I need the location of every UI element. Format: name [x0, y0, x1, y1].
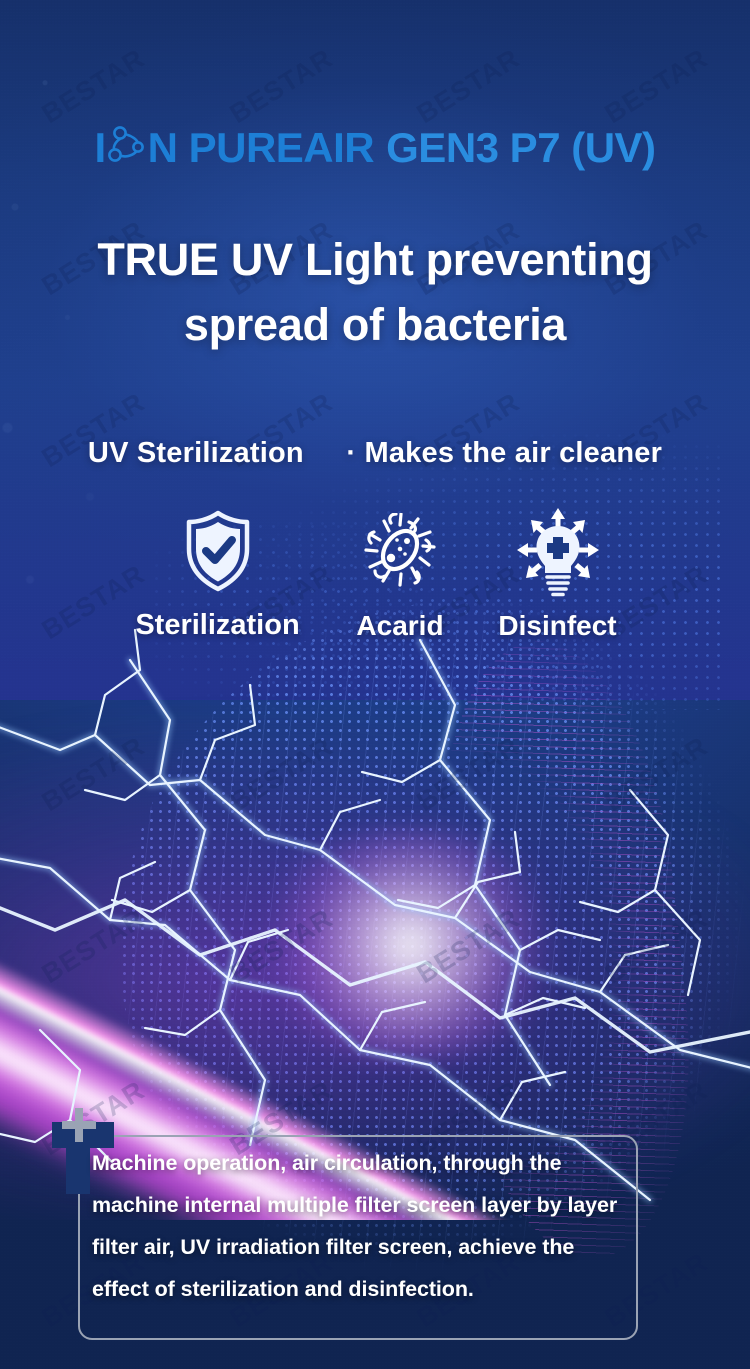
headline-line-1: TRUE UV Light preventing [40, 228, 710, 293]
ion-atom-icon [107, 124, 147, 171]
brand-lockup: I N PUREAIR GEN3 P7 (UV) [0, 124, 750, 171]
subheadline-left: UV Sterilization [88, 437, 304, 469]
info-line-1: Machine operation, air circulation, thro… [92, 1142, 692, 1184]
feature-label: Disinfect [498, 610, 616, 642]
subheadline: UV Sterilization · Makes the air cleaner [40, 437, 710, 470]
feature-disinfect: Disinfect [475, 506, 640, 642]
bacteria-icon [360, 506, 440, 598]
info-line-4: effect of sterilization and disinfection… [92, 1268, 692, 1310]
headline-line-2: spread of bacteria [40, 293, 710, 358]
shield-check-icon [182, 505, 254, 597]
lightbulb-cross-icon [513, 506, 603, 598]
page-title: TRUE UV Light preventing spread of bacte… [40, 228, 710, 358]
info-line-3: filter air, UV irradiation filter screen… [92, 1226, 692, 1268]
poster-content: I N PUREAIR GEN3 P7 (UV) TRUE UV L [0, 0, 750, 1369]
brand-model: GEN3 P7 (UV) [386, 127, 655, 169]
feature-acarid: Acarid [325, 506, 475, 642]
feature-label: Acarid [356, 610, 443, 642]
feature-icon-row: Sterilization [0, 505, 750, 642]
plus-marker-icon [62, 1108, 96, 1142]
info-line-2: machine internal multiple filter screen … [92, 1184, 692, 1226]
subheadline-right: · Makes the air cleaner [346, 437, 662, 469]
brand-suffix: N PUREAIR [148, 127, 375, 169]
brand-prefix: I [94, 127, 105, 169]
promo-poster: BESTAR BESTAR BESTAR BESTAR BESTAR BESTA… [0, 0, 750, 1369]
feature-sterilization: Sterilization [110, 505, 325, 642]
info-box-text: Machine operation, air circulation, thro… [92, 1142, 692, 1311]
info-box-corner-gap-left [66, 1140, 90, 1194]
feature-label: Sterilization [135, 609, 299, 642]
